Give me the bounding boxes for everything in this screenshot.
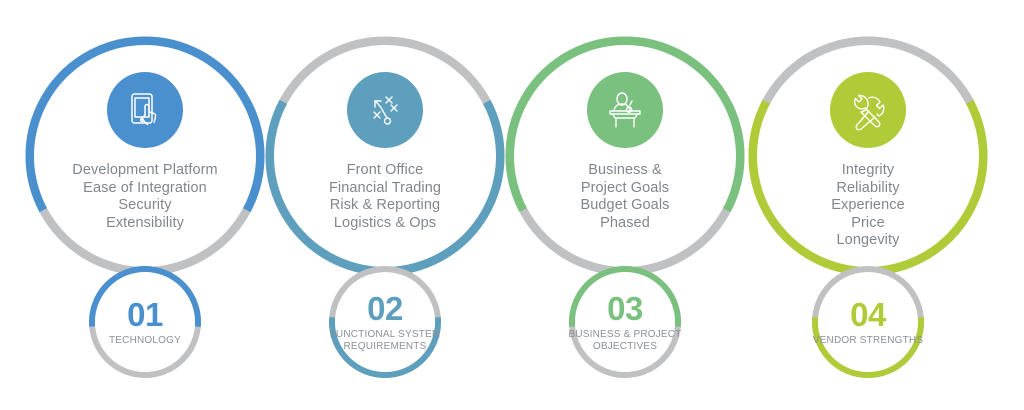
step-text-line: Security xyxy=(72,197,217,215)
number-label-line: FUNCTIONAL SYSTEM xyxy=(330,329,441,341)
step-card-3[interactable]: Business &Project GoalsBudget GoalsPhase… xyxy=(505,36,745,276)
step-text-line: Experience xyxy=(831,197,905,215)
step-content-4: IntegrityReliabilityExperiencePriceLonge… xyxy=(757,45,979,267)
number-value-3: 03 xyxy=(607,292,643,326)
step-number-2[interactable]: 02 FUNCTIONAL SYSTEMREQUIREMENTS xyxy=(329,266,441,378)
number-content-1: 01 TECHNOLOGY xyxy=(95,272,195,372)
step-text-line: Risk & Reporting xyxy=(329,197,441,215)
number-label-3: BUSINESS & PROJECTOBJECTIVES xyxy=(568,329,681,352)
step-text-3: Business &Project GoalsBudget GoalsPhase… xyxy=(580,162,669,232)
step-text-line: Reliability xyxy=(831,180,905,198)
step-content-3: Business &Project GoalsBudget GoalsPhase… xyxy=(514,45,736,267)
step-text-line: Project Goals xyxy=(580,180,669,198)
step-number-1[interactable]: 01 TECHNOLOGY xyxy=(89,266,201,378)
number-value-4: 04 xyxy=(850,298,886,332)
number-label-2: FUNCTIONAL SYSTEMREQUIREMENTS xyxy=(330,329,441,352)
step-text-1: Development PlatformEase of IntegrationS… xyxy=(72,162,217,232)
step-card-4[interactable]: IntegrityReliabilityExperiencePriceLonge… xyxy=(748,36,988,276)
step-text-line: Development Platform xyxy=(72,162,217,180)
step-text-line: Longevity xyxy=(831,232,905,250)
step-text-line: Integrity xyxy=(831,162,905,180)
number-label-line: BUSINESS & PROJECT xyxy=(568,329,681,341)
step-text-line: Front Office xyxy=(329,162,441,180)
number-content-3: 03 BUSINESS & PROJECTOBJECTIVES xyxy=(575,272,675,372)
number-content-2: 02 FUNCTIONAL SYSTEMREQUIREMENTS xyxy=(335,272,435,372)
number-label-line: REQUIREMENTS xyxy=(330,341,441,353)
step-text-line: Phased xyxy=(580,215,669,233)
podium-speaker-icon xyxy=(587,72,663,148)
number-label-1: TECHNOLOGY xyxy=(109,335,181,347)
step-number-3[interactable]: 03 BUSINESS & PROJECTOBJECTIVES xyxy=(569,266,681,378)
step-text-line: Logistics & Ops xyxy=(329,215,441,233)
step-text-line: Ease of Integration xyxy=(72,180,217,198)
process-infographic: Development PlatformEase of IntegrationS… xyxy=(0,0,1024,410)
number-label-line: OBJECTIVES xyxy=(568,341,681,353)
step-text-line: Financial Trading xyxy=(329,180,441,198)
step-content-2: Front OfficeFinancial TradingRisk & Repo… xyxy=(274,45,496,267)
strategy-playbook-icon xyxy=(347,72,423,148)
step-card-1[interactable]: Development PlatformEase of IntegrationS… xyxy=(25,36,265,276)
step-text-line: Extensibility xyxy=(72,215,217,233)
step-number-4[interactable]: 04 VENDOR STRENGTHS xyxy=(812,266,924,378)
step-text-line: Budget Goals xyxy=(580,197,669,215)
number-label-line: VENDOR STRENGTHS xyxy=(813,335,923,347)
tablet-touch-icon xyxy=(107,72,183,148)
number-value-2: 02 xyxy=(367,292,403,326)
step-text-4: IntegrityReliabilityExperiencePriceLonge… xyxy=(831,162,905,250)
step-content-1: Development PlatformEase of IntegrationS… xyxy=(34,45,256,267)
step-text-2: Front OfficeFinancial TradingRisk & Repo… xyxy=(329,162,441,232)
wrench-hammer-icon xyxy=(830,72,906,148)
step-text-line: Business & xyxy=(580,162,669,180)
number-label-4: VENDOR STRENGTHS xyxy=(813,335,923,347)
number-label-line: TECHNOLOGY xyxy=(109,335,181,347)
number-content-4: 04 VENDOR STRENGTHS xyxy=(818,272,918,372)
step-text-line: Price xyxy=(831,215,905,233)
number-value-1: 01 xyxy=(127,298,163,332)
step-card-2[interactable]: Front OfficeFinancial TradingRisk & Repo… xyxy=(265,36,505,276)
